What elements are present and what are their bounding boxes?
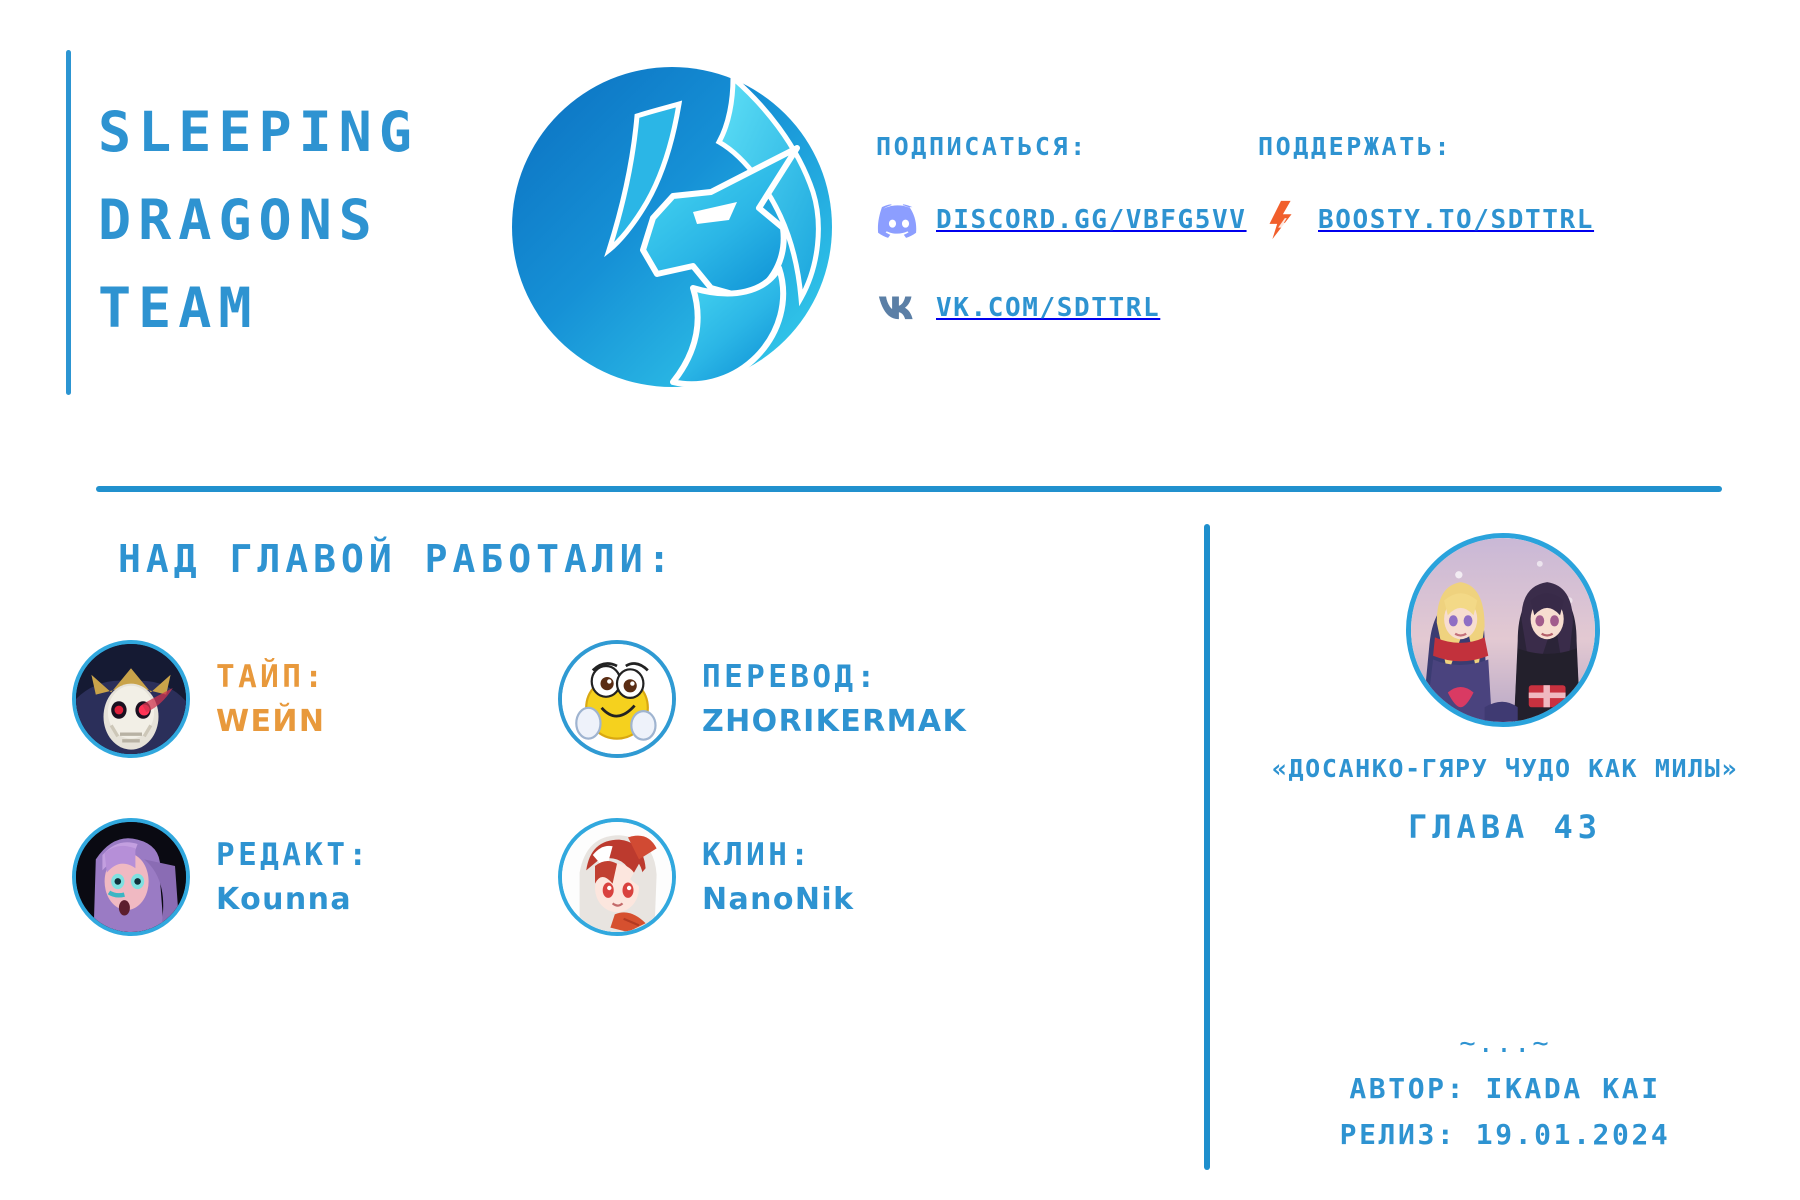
manga-cover-thumbnail	[1406, 533, 1600, 727]
credit-role: ТАЙП:	[216, 654, 326, 700]
credit-entry: ПЕРЕВОД: ZHORIKERMAK	[558, 640, 967, 758]
credit-nick: ZHORIKERMAK	[702, 700, 967, 744]
manga-author: АВТОР: IKADA KAI	[1210, 1072, 1800, 1105]
discord-icon	[876, 197, 922, 243]
vk-link-label: VK.COM/SDTTRL	[936, 293, 1160, 323]
avatar	[558, 818, 676, 936]
vk-icon	[876, 285, 922, 331]
credit-text: ТАЙП: WЕЙN	[216, 654, 326, 744]
release-credits-page: SLEEPING DRAGONS TEAM	[0, 0, 1800, 1200]
credit-text: КЛИН: NanoNik	[702, 832, 854, 922]
vk-link[interactable]: VK.COM/SDTTRL	[876, 285, 1247, 331]
credit-role: ПЕРЕВОД:	[702, 654, 967, 700]
credits-heading: НАД ГЛАВОЙ РАБОТАЛИ:	[118, 537, 676, 581]
credit-entry: РЕДАКТ: Kounna	[72, 818, 370, 936]
discord-link[interactable]: DISCORD.GG/VBFG5VV	[876, 197, 1247, 243]
credit-text: ПЕРЕВОД: ZHORIKERMAK	[702, 654, 967, 744]
release-date: РЕЛИЗ: 19.01.2024	[1210, 1118, 1800, 1151]
team-name-line-2: DRAGONS	[98, 176, 478, 264]
boosty-link[interactable]: BOOSTY.TO/SDTTRL	[1258, 197, 1594, 243]
subscribe-heading: ПОДПИСАТЬСЯ:	[876, 132, 1247, 161]
credit-nick: WЕЙN	[216, 700, 326, 744]
credit-entry: ТАЙП: WЕЙN	[72, 640, 326, 758]
credit-text: РЕДАКТ: Kounna	[216, 832, 370, 922]
manga-chapter: ГЛАВА 43	[1210, 808, 1800, 846]
avatar	[558, 640, 676, 758]
squiggle-separator: ~...~	[1210, 1028, 1800, 1059]
team-name-line-1: SLEEPING	[98, 88, 478, 176]
support-heading: ПОДДЕРЖАТЬ:	[1258, 132, 1594, 161]
avatar	[72, 640, 190, 758]
avatar	[72, 818, 190, 936]
subscribe-column: ПОДПИСАТЬСЯ: DISCORD.GG/VBFG5VV VK.COM/S…	[876, 132, 1247, 373]
discord-link-label: DISCORD.GG/VBFG5VV	[936, 205, 1247, 235]
credit-nick: Kounna	[216, 878, 370, 922]
dragon-logo-icon	[497, 52, 847, 402]
boosty-icon	[1258, 197, 1304, 243]
left-accent-bar	[66, 50, 71, 395]
support-column: ПОДДЕРЖАТЬ: BOOSTY.TO/SDTTRL	[1258, 132, 1594, 285]
section-divider	[96, 486, 1722, 492]
credit-entry: КЛИН: NanoNik	[558, 818, 854, 936]
credit-role: РЕДАКТ:	[216, 832, 370, 878]
manga-title: «ДОСАНКО-ГЯРУ ЧУДО КАК МИЛЫ»	[1210, 754, 1800, 783]
team-name-block: SLEEPING DRAGONS TEAM	[98, 88, 478, 352]
credit-role: КЛИН:	[702, 832, 854, 878]
boosty-link-label: BOOSTY.TO/SDTTRL	[1318, 205, 1594, 235]
team-name-line-3: TEAM	[98, 264, 478, 352]
credit-nick: NanoNik	[702, 878, 854, 922]
